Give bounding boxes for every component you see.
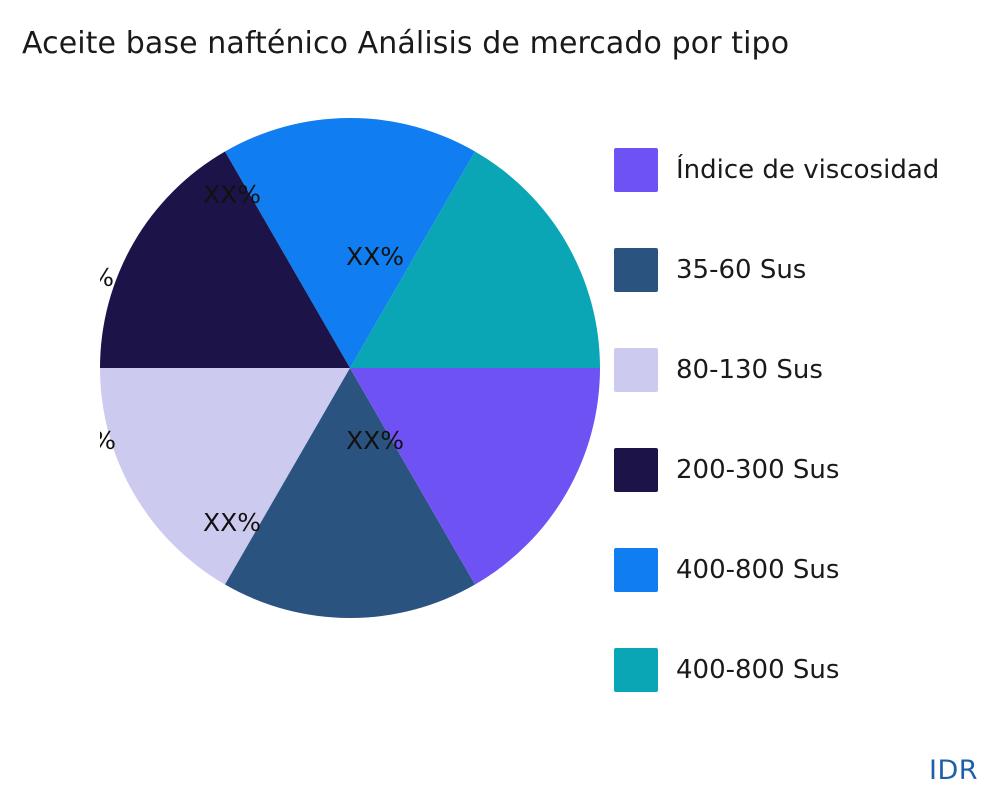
legend-item-label: 80-130 Sus	[676, 355, 823, 385]
legend-swatch-icon	[614, 648, 658, 692]
legend-item[interactable]: 80-130 Sus	[614, 320, 994, 420]
pie-chart: XX% XX% XX% XX% XX% XX%	[100, 118, 600, 618]
chart-title: Aceite base nafténico Análisis de mercad…	[22, 26, 789, 61]
pie-slice-label: XX%	[203, 180, 261, 209]
legend-item-label: 400-800 Sus	[676, 655, 839, 685]
pie-slice-label: XX%	[346, 426, 404, 455]
watermark: IDR	[929, 755, 978, 786]
legend-swatch-icon	[614, 448, 658, 492]
legend-item-label: Índice de viscosidad	[676, 155, 939, 185]
legend-item-label: 400-800 Sus	[676, 555, 839, 585]
legend-item[interactable]: 200-300 Sus	[614, 420, 994, 520]
legend-item-label: 200-300 Sus	[676, 455, 839, 485]
pie-svg: XX% XX% XX% XX% XX% XX%	[100, 118, 600, 618]
pie-slice-label: XX%	[203, 508, 261, 537]
legend-item[interactable]: Índice de viscosidad	[614, 120, 994, 220]
legend-item-label: 35-60 Sus	[676, 255, 806, 285]
legend-swatch-icon	[614, 548, 658, 592]
pie-slice-label: XX%	[100, 263, 114, 292]
legend-swatch-icon	[614, 248, 658, 292]
legend-swatch-icon	[614, 148, 658, 192]
legend-item[interactable]: 400-800 Sus	[614, 520, 994, 620]
legend-swatch-icon	[614, 348, 658, 392]
legend-item[interactable]: 35-60 Sus	[614, 220, 994, 320]
legend-item[interactable]: 400-800 Sus	[614, 620, 994, 720]
pie-slice-label: XX%	[100, 426, 116, 455]
pie-slice-label: XX%	[346, 242, 404, 271]
legend: Índice de viscosidad 35-60 Sus 80-130 Su…	[614, 120, 994, 720]
